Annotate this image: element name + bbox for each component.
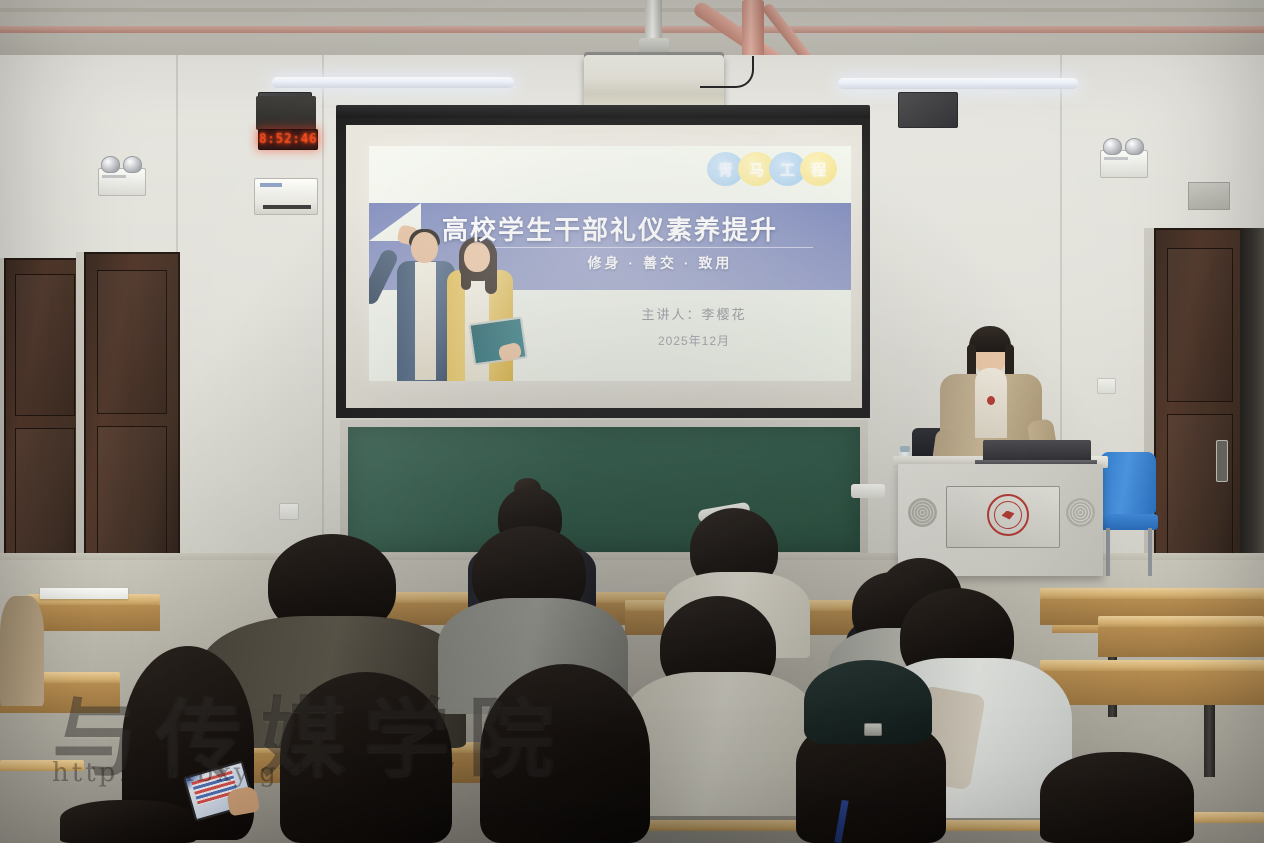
fluorescent-light-left — [272, 77, 514, 88]
led-clock-housing — [256, 96, 316, 130]
desk-front-right-front — [1040, 671, 1264, 705]
wall-socket-left — [279, 503, 299, 520]
led-clock-display: 8:52:46 — [258, 129, 318, 150]
student-left-edge-jacket — [0, 596, 44, 706]
lectern-speaker-right-icon — [1066, 498, 1095, 527]
paper-sheet-left[interactable] — [40, 588, 128, 599]
student-front-2 — [480, 664, 650, 843]
slide-title: 高校学生干部礼仪素养提升 — [369, 210, 851, 247]
student-hair — [1040, 752, 1194, 843]
student-front-5 — [60, 800, 196, 843]
slide-title-rule — [495, 247, 813, 248]
tablet-icon — [468, 316, 527, 365]
laptop-screen[interactable] — [983, 440, 1091, 462]
logo-bubble-4: 程 — [800, 152, 837, 186]
program-logo: 青 马 工 程 — [713, 152, 837, 186]
wall-speaker-right — [898, 92, 958, 128]
emergency-lamp-icon — [123, 156, 142, 173]
slide-date: 2025年12月 — [549, 332, 839, 349]
paper-cups[interactable] — [851, 484, 885, 498]
pipe-vertical — [742, 0, 764, 60]
chalkboard-sheen — [348, 427, 860, 552]
emergency-light-right — [1100, 150, 1148, 178]
door-handle-right[interactable] — [1216, 440, 1228, 482]
fluorescent-light-right — [838, 78, 1078, 89]
projector-cable — [700, 56, 754, 88]
presentation-slide: 青 马 工 程 高校学生干部礼仪素养提升 修身 · 善交 · 致用 主讲人：李樱… — [369, 146, 851, 381]
wall-socket-right — [1097, 378, 1116, 394]
desk-front-right-mid2 — [1098, 627, 1264, 657]
desk-leg — [1204, 705, 1215, 777]
desk-top-right-mid2 — [1098, 616, 1264, 627]
student-long-hair — [480, 664, 650, 843]
slide-presenter: 主讲人：李樱花 — [549, 304, 839, 323]
ceiling-beam — [0, 26, 1264, 33]
clock-time-text: 8:52:46 — [259, 132, 317, 147]
student-front-3-with-cap — [790, 660, 948, 843]
wall-access-panel — [1188, 182, 1230, 210]
desk-front-left-back — [28, 605, 160, 631]
desk-top-right-front — [1040, 660, 1264, 671]
student-hair — [60, 800, 196, 843]
lectern-speaker-left-icon — [908, 498, 937, 527]
desk-top-left-closest — [0, 760, 84, 771]
lecture-hall-photo: 8:52:46 青 马 — [0, 0, 1264, 843]
blue-chair-back[interactable] — [1100, 452, 1156, 514]
ceiling-seam — [0, 8, 1264, 12]
university-emblem-icon — [987, 494, 1029, 536]
chair-leg — [1148, 528, 1152, 576]
bottle-cap — [900, 446, 910, 452]
chair-leg — [1106, 528, 1110, 576]
emergency-light-left — [98, 168, 146, 196]
emergency-lamp-icon — [101, 156, 120, 173]
emergency-lamp-icon — [1125, 138, 1144, 155]
wall-mounted-ac-unit — [254, 178, 318, 215]
wall-seam-mid-left — [322, 55, 324, 600]
student-front-1 — [280, 672, 452, 843]
door-right[interactable] — [1154, 228, 1246, 608]
open-doorway-gap — [1240, 228, 1264, 604]
emergency-lamp-icon — [1103, 138, 1122, 155]
student-long-hair — [280, 672, 452, 843]
desk-top-right-back — [1040, 588, 1264, 599]
hand-holding-tablet — [226, 786, 260, 817]
slide-subtitle: 修身 · 善交 · 致用 — [495, 253, 825, 273]
cap-buckle-icon — [864, 723, 882, 736]
presenter-badge — [987, 396, 995, 405]
student-front-4 — [1040, 752, 1194, 843]
